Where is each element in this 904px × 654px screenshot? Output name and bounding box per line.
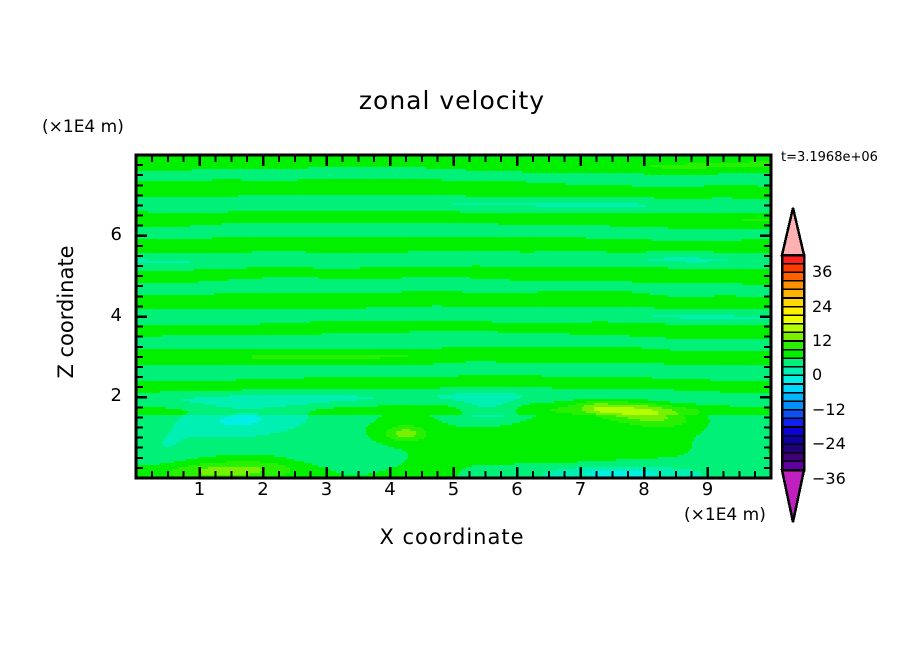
colorbar xyxy=(782,208,804,522)
x-tick-label: 1 xyxy=(180,479,220,500)
colorbar-tick-label: −12 xyxy=(812,400,846,419)
x-tick-label: 3 xyxy=(307,479,347,500)
y-tick-label: 6 xyxy=(96,224,122,245)
x-tick-label: 9 xyxy=(688,479,728,500)
x-tick-label: 5 xyxy=(434,479,474,500)
contour-plot-canvas xyxy=(0,0,904,654)
x-tick-label: 6 xyxy=(497,479,537,500)
y-tick-label: 2 xyxy=(96,385,122,406)
x-tick-label: 7 xyxy=(561,479,601,500)
colorbar-tick-label: 12 xyxy=(812,331,832,350)
colorbar-tick-label: −36 xyxy=(812,469,846,488)
colorbar-tick-label: 24 xyxy=(812,297,832,316)
colorbar-tick-label: 0 xyxy=(812,365,822,384)
x-tick-label: 2 xyxy=(243,479,283,500)
colorbar-tick-label: 36 xyxy=(812,262,832,281)
y-tick-label: 4 xyxy=(96,305,122,326)
colorbar-tick-label: −24 xyxy=(812,434,846,453)
contour-field xyxy=(136,155,772,479)
x-tick-label: 4 xyxy=(370,479,410,500)
x-tick-label: 8 xyxy=(624,479,664,500)
